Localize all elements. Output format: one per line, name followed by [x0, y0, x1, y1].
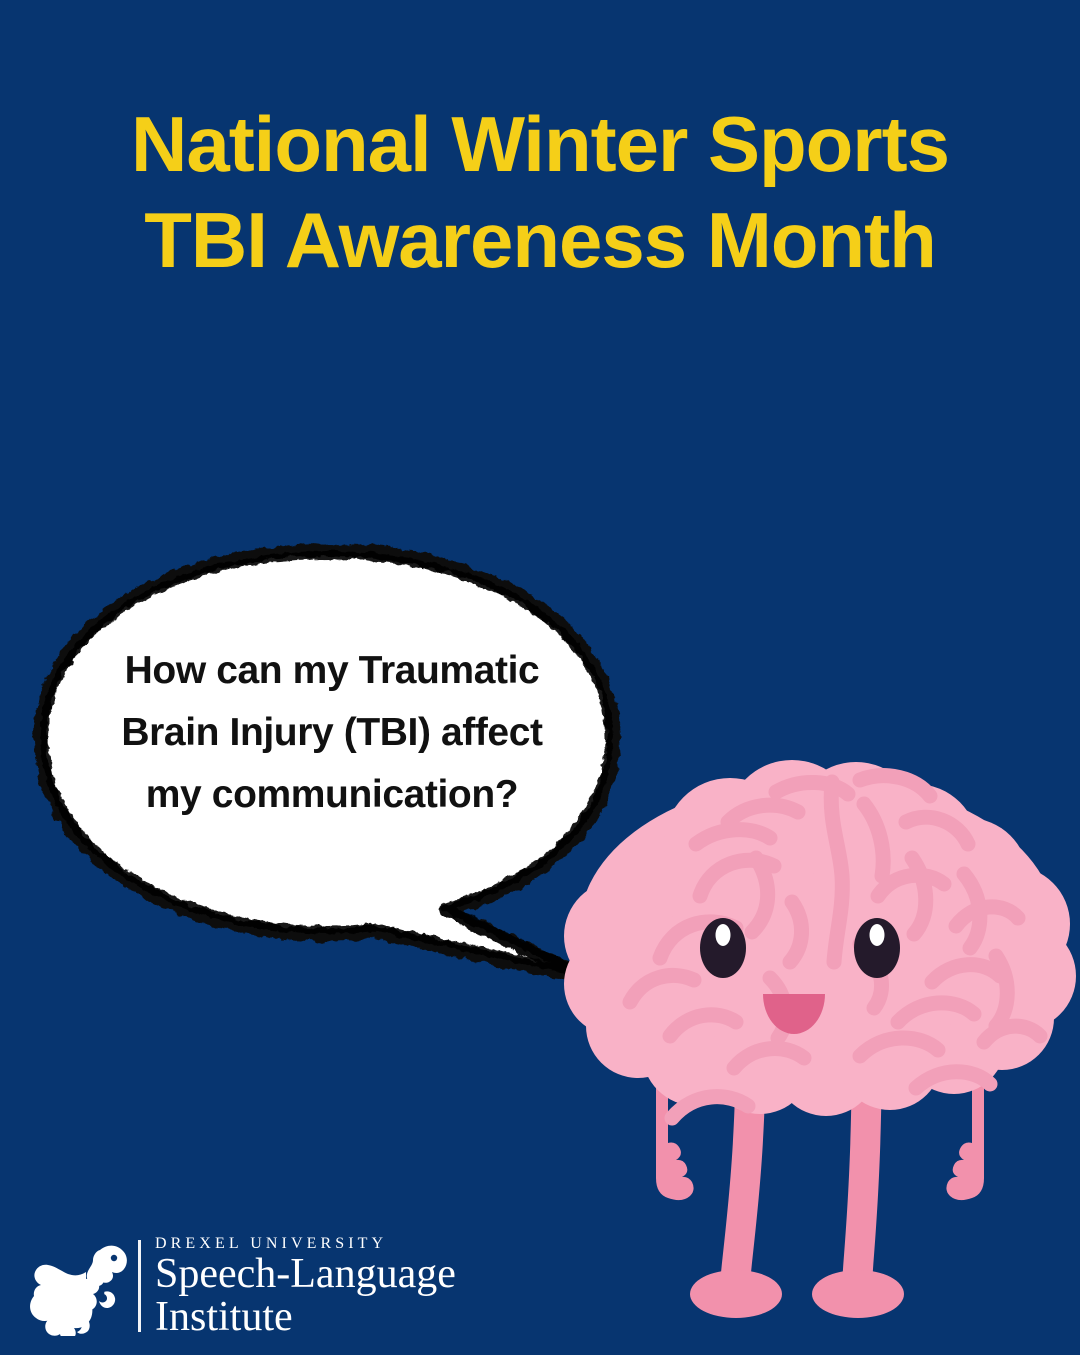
drexel-dragon-icon: [28, 1236, 132, 1336]
logo-divider: [138, 1240, 141, 1332]
right-foot: [812, 1270, 904, 1318]
drexel-speech-language-institute-logo[interactable]: DREXEL UNIVERSITY Speech-Language Instit…: [28, 1232, 508, 1340]
title-line-2: TBI Awareness Month: [0, 192, 1080, 288]
title-line-1: National Winter Sports: [0, 96, 1080, 192]
brain-illustration: [560, 726, 1080, 1350]
speech-bubble-text: How can my Traumatic Brain Injury (TBI) …: [82, 640, 582, 826]
logo-name-line-2: Institute: [155, 1295, 456, 1339]
left-eye-highlight: [716, 924, 731, 946]
page-title: National Winter Sports TBI Awareness Mon…: [0, 96, 1080, 288]
logo-name-line-1: Speech-Language: [155, 1254, 456, 1295]
bubble-line-3: my communication?: [82, 764, 582, 826]
brain-character: [560, 726, 1080, 1350]
left-foot: [690, 1270, 782, 1318]
speech-bubble: How can my Traumatic Brain Injury (TBI) …: [22, 528, 642, 988]
bubble-line-1: How can my Traumatic: [82, 640, 582, 702]
logo-wordmark: DREXEL UNIVERSITY Speech-Language Instit…: [155, 1234, 456, 1339]
poster-canvas: National Winter Sports TBI Awareness Mon…: [0, 0, 1080, 1350]
right-eye-highlight: [870, 924, 885, 946]
bubble-line-2: Brain Injury (TBI) affect: [82, 702, 582, 764]
brain-body: [564, 760, 1076, 1116]
